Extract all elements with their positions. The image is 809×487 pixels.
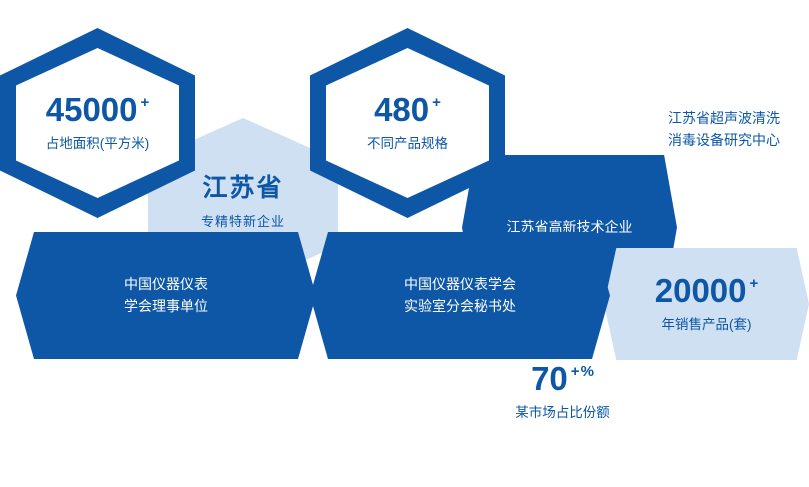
lab-line1: 中国仪器仪表学会 [404, 274, 516, 296]
sales-value: 20000 [655, 274, 747, 307]
research-line1: 江苏省超声波清洗 [640, 108, 808, 130]
share-superscript: + [571, 364, 580, 379]
zone-subtitle: 专精特新企业 [201, 211, 285, 230]
research-line2: 消毒设备研究中心 [640, 130, 808, 152]
bar-instrument-society: 中国仪器仪表 学会理事单位 [16, 232, 316, 359]
zone-title: 江苏省 [202, 176, 283, 201]
spec-value: 480 [374, 93, 429, 126]
sales-superscript: + [750, 276, 759, 291]
infographic-stage: 江苏省 专精特新企业 45000 + 占地面积(平方米) 480 + 不同产品规… [0, 0, 809, 487]
area-value-row: 45000 + [46, 93, 150, 126]
sales-caption: 年销售产品(套) [662, 317, 752, 333]
market-share-stat: 70 + % 某市场占比份额 [470, 362, 655, 421]
lab-line2: 实验室分会秘书处 [404, 296, 516, 318]
society-line2: 学会理事单位 [124, 296, 208, 318]
spec-superscript: + [432, 95, 441, 110]
spec-caption: 不同产品规格 [367, 136, 448, 152]
area-caption: 占地面积(平方米) [46, 136, 150, 152]
society-line1: 中国仪器仪表 [124, 274, 208, 296]
area-superscript: + [141, 95, 150, 110]
sales-value-row: 20000 + [655, 274, 759, 307]
share-value: 70 [531, 362, 568, 395]
share-unit: % [581, 364, 594, 379]
share-value-row: 70 + % [470, 362, 655, 395]
bar-annual-sales: 20000 + 年销售产品(套) [604, 248, 809, 360]
area-value: 45000 [46, 93, 138, 126]
spec-value-row: 480 + [374, 93, 441, 126]
share-caption: 某市场占比份额 [470, 405, 655, 421]
bar-lab-branch: 中国仪器仪表学会 实验室分会秘书处 [310, 232, 610, 359]
research-center-text: 江苏省超声波清洗 消毒设备研究中心 [640, 108, 808, 151]
